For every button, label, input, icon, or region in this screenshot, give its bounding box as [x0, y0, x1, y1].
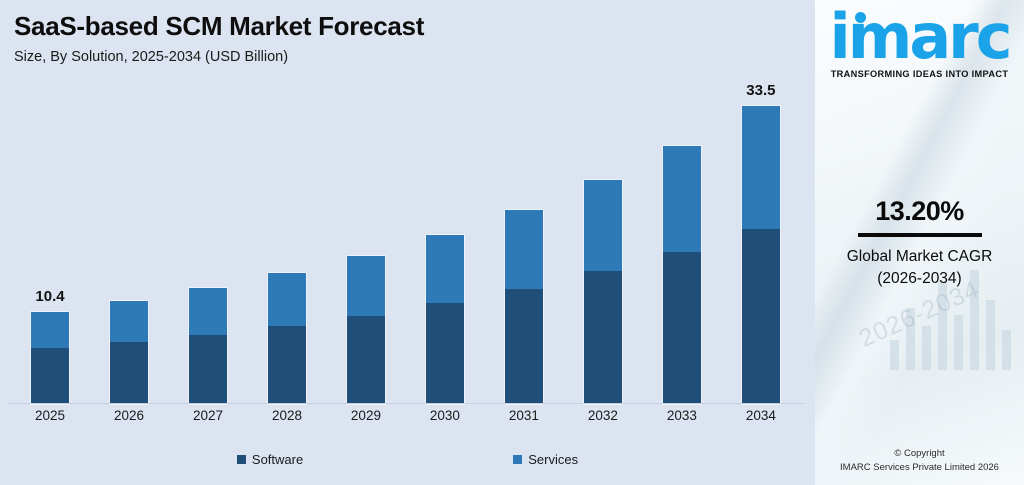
x-axis-tick: 2028	[251, 408, 323, 423]
decorative-bar	[938, 282, 947, 370]
copyright-line-2: IMARC Services Private Limited 2026	[815, 461, 1024, 475]
x-axis-tick: 2026	[93, 408, 165, 423]
bar-segment-services[interactable]	[426, 235, 464, 303]
bar-segment-software[interactable]	[31, 348, 69, 404]
decorative-bar	[1002, 330, 1011, 370]
x-axis-line	[8, 403, 805, 404]
bar-slot	[488, 100, 560, 404]
bar-slot: 33.5	[725, 100, 797, 404]
decorative-bar	[986, 300, 995, 370]
bar-segment-software[interactable]	[426, 303, 464, 404]
x-axis-tick: 2025	[14, 408, 86, 423]
x-axis-labels: 2025202620272028202920302031203220332034	[14, 408, 797, 423]
cagr-value: 13.20%	[815, 196, 1024, 227]
bar-slot	[172, 100, 244, 404]
x-axis-tick: 2033	[646, 408, 718, 423]
brand-panel: 2026-2034 imarc TRANSFORMING IDEAS INTO …	[815, 0, 1024, 485]
legend-item-services[interactable]: Services	[513, 452, 578, 467]
bar-segment-services[interactable]	[584, 180, 622, 272]
legend-swatch-icon	[513, 455, 522, 464]
legend-swatch-icon	[237, 455, 246, 464]
bar-segment-software[interactable]	[505, 289, 543, 404]
stacked-bar[interactable]	[268, 273, 306, 404]
bar-segment-services[interactable]	[505, 210, 543, 289]
stacked-bar[interactable]	[584, 180, 622, 404]
bar-slot	[330, 100, 402, 404]
stacked-bar[interactable]	[110, 301, 148, 404]
x-axis-tick: 2031	[488, 408, 560, 423]
x-axis-tick: 2032	[567, 408, 639, 423]
cagr-caption-period: (2026-2034)	[815, 268, 1024, 290]
page-subtitle: Size, By Solution, 2025-2034 (USD Billio…	[14, 49, 774, 66]
cagr-caption-primary: Global Market CAGR	[815, 246, 1024, 268]
bar-group: 10.433.5	[14, 100, 797, 404]
copyright-block: © Copyright IMARC Services Private Limit…	[815, 447, 1024, 476]
bar-segment-software[interactable]	[742, 229, 780, 404]
bar-segment-services[interactable]	[189, 288, 227, 334]
bar-segment-services[interactable]	[268, 273, 306, 325]
decorative-bar	[954, 315, 963, 370]
stacked-bar[interactable]	[663, 146, 701, 404]
stacked-bar[interactable]	[426, 235, 464, 404]
bar-slot	[251, 100, 323, 404]
stacked-bar[interactable]	[189, 288, 227, 404]
legend-item-software[interactable]: Software	[237, 452, 303, 467]
copyright-line-1: © Copyright	[815, 447, 1024, 461]
bar-segment-software[interactable]	[189, 335, 227, 404]
stacked-bar[interactable]: 10.4	[31, 312, 69, 405]
bar-segment-software[interactable]	[663, 252, 701, 404]
bar-segment-services[interactable]	[742, 106, 780, 229]
stacked-bar[interactable]	[505, 210, 543, 404]
bar-value-label: 10.4	[35, 288, 64, 305]
chart-header: SaaS-based SCM Market Forecast Size, By …	[14, 12, 774, 66]
bar-segment-services[interactable]	[347, 256, 385, 316]
page-title: SaaS-based SCM Market Forecast	[14, 12, 774, 42]
bar-slot	[646, 100, 718, 404]
bar-segment-services[interactable]	[110, 301, 148, 342]
x-axis-tick: 2030	[409, 408, 481, 423]
bar-value-label: 33.5	[746, 82, 775, 99]
bar-segment-services[interactable]	[31, 312, 69, 348]
cagr-block: 13.20% Global Market CAGR (2026-2034)	[815, 196, 1024, 291]
plot-area: 10.433.5	[0, 100, 815, 404]
bar-slot	[567, 100, 639, 404]
bar-segment-software[interactable]	[110, 342, 148, 404]
bar-segment-software[interactable]	[584, 271, 622, 404]
bar-slot	[409, 100, 481, 404]
chart-legend: SoftwareServices	[0, 452, 815, 467]
chart-panel: SaaS-based SCM Market Forecast Size, By …	[0, 0, 815, 485]
stacked-bar[interactable]: 33.5	[742, 106, 780, 404]
stacked-bar[interactable]	[347, 256, 385, 404]
x-axis-tick: 2029	[330, 408, 402, 423]
cagr-divider	[858, 233, 982, 237]
bar-slot	[93, 100, 165, 404]
imarc-logo: imarc TRANSFORMING IDEAS INTO IMPACT	[815, 8, 1024, 79]
x-axis-tick: 2034	[725, 408, 797, 423]
legend-label: Software	[252, 452, 303, 467]
bar-segment-software[interactable]	[347, 316, 385, 404]
decorative-bar	[922, 326, 931, 370]
x-axis-tick: 2027	[172, 408, 244, 423]
bar-segment-services[interactable]	[663, 146, 701, 252]
decorative-bar	[890, 340, 899, 370]
bar-segment-software[interactable]	[268, 326, 306, 404]
bar-slot: 10.4	[14, 100, 86, 404]
infographic-page: SaaS-based SCM Market Forecast Size, By …	[0, 0, 1024, 485]
decorative-bar	[906, 308, 915, 370]
legend-label: Services	[528, 452, 578, 467]
